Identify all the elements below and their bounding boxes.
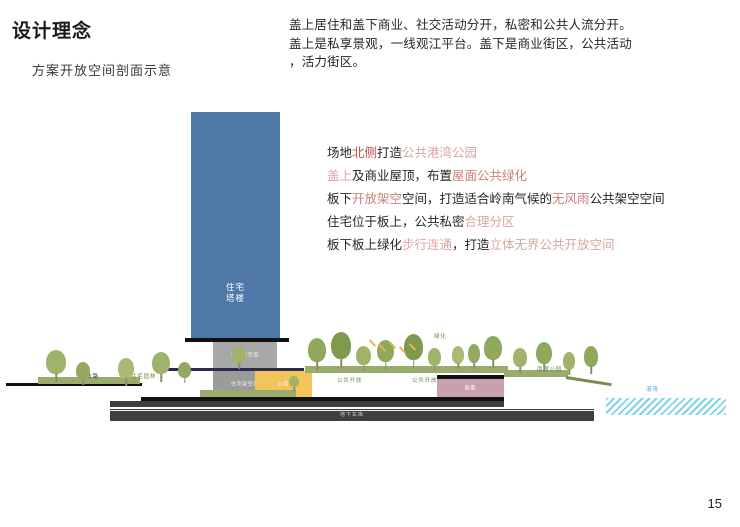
intro-line-3: ，活力街区。 [289, 53, 734, 72]
harbor-label: 港湾 [646, 385, 659, 393]
tree [468, 344, 480, 368]
tree-crown-icon [513, 348, 527, 367]
public-open-label-1: 公共开放 [337, 376, 362, 384]
tree-trunk-icon [492, 359, 494, 367]
tree-trunk-icon [434, 365, 436, 371]
tree [232, 346, 246, 368]
residential-tower: 住宅 塔楼 [191, 112, 280, 338]
tree-trunk-icon [543, 364, 545, 372]
tree [513, 348, 527, 372]
tree-trunk-icon [125, 378, 127, 385]
tree-trunk-icon [363, 365, 365, 372]
tree [118, 358, 134, 384]
tree-crown-icon [484, 336, 502, 360]
tree [484, 336, 502, 366]
tree-trunk-icon [590, 366, 592, 373]
tree [563, 352, 575, 374]
page-subtitle: 方案开放空间剖面示意 [32, 60, 172, 79]
shoreline-slope [566, 376, 612, 386]
box-commercial-label: 公商 [255, 381, 312, 388]
tree-crown-icon [118, 358, 134, 379]
tree-crown-icon [289, 376, 299, 387]
intro-paragraph: 盖上居住和盖下商业、社交活动分开，私密和公共人流分开。 盖上是私享景观，一线观江… [289, 16, 734, 72]
tree-trunk-icon [340, 359, 342, 369]
tree-trunk-icon [293, 387, 295, 391]
tree-trunk-icon [55, 373, 57, 381]
intro-line-2: 盖上是私享景观，一线观江平台。盖下是商业街区，公共活动 [289, 35, 734, 54]
underground-slab-upper [110, 401, 504, 407]
tree-crown-icon [356, 346, 371, 365]
tree-trunk-icon [160, 374, 162, 382]
residential-tower-label: 住宅 塔楼 [191, 282, 280, 304]
tree-crown-icon [584, 346, 598, 367]
underground-parking-label: 地下车库 [110, 411, 594, 418]
tree-crown-icon [331, 332, 351, 359]
tree-trunk-icon [568, 369, 570, 375]
tree-trunk-icon [316, 361, 318, 369]
tree-crown-icon [563, 352, 575, 370]
tower-label-line-2: 塔楼 [191, 293, 280, 304]
tree [331, 332, 351, 366]
slide-canvas: 设计理念 方案开放空间剖面示意 盖上居住和盖下商业、社交活动分开，私密和公共人流… [0, 0, 740, 527]
harbor-water [606, 398, 726, 415]
greening-label: 绿化 [434, 332, 447, 340]
page-title: 设计理念 [12, 16, 92, 43]
terrace-podium-deck [200, 390, 296, 397]
tree-crown-icon [232, 346, 246, 364]
tree-crown-icon [536, 342, 552, 364]
tree-crown-icon [452, 346, 464, 364]
tree [308, 338, 326, 368]
tree [584, 346, 598, 372]
tree-crown-icon [76, 362, 90, 380]
tree-trunk-icon [82, 379, 84, 385]
tree-trunk-icon [519, 367, 521, 374]
tree [46, 350, 66, 380]
tree [178, 362, 191, 382]
tree-trunk-icon [457, 363, 459, 369]
intro-line-1: 盖上居住和盖下商业、社交活动分开，私密和公共人流分开。 [289, 16, 734, 35]
tree-crown-icon [46, 350, 66, 374]
tree [356, 346, 371, 370]
box-pavilion-label: 配套 [437, 385, 504, 392]
page-number: 15 [708, 496, 722, 511]
tree [452, 346, 464, 368]
section-diagram: 住宅 塔楼 住宅架空层 住宅架空层 公商 配套 [0, 100, 740, 430]
tree-crown-icon [468, 344, 480, 363]
tree-trunk-icon [413, 359, 415, 368]
tower-label-line-1: 住宅 [191, 282, 280, 293]
tree-crown-icon [178, 362, 191, 378]
tree [152, 352, 170, 380]
tree [536, 342, 552, 370]
tree [76, 362, 90, 384]
tree-trunk-icon [473, 363, 475, 370]
tree-crown-icon [428, 348, 441, 366]
tree-trunk-icon [184, 378, 186, 384]
tree [289, 376, 299, 390]
tree-trunk-icon [238, 363, 240, 369]
tree-trunk-icon [385, 362, 387, 370]
public-open-label-2: 公共开放 [412, 376, 437, 384]
tree [428, 348, 441, 370]
tree-crown-icon [308, 338, 326, 362]
tree-crown-icon [152, 352, 170, 374]
box-pavilion: 配套 [437, 379, 504, 397]
